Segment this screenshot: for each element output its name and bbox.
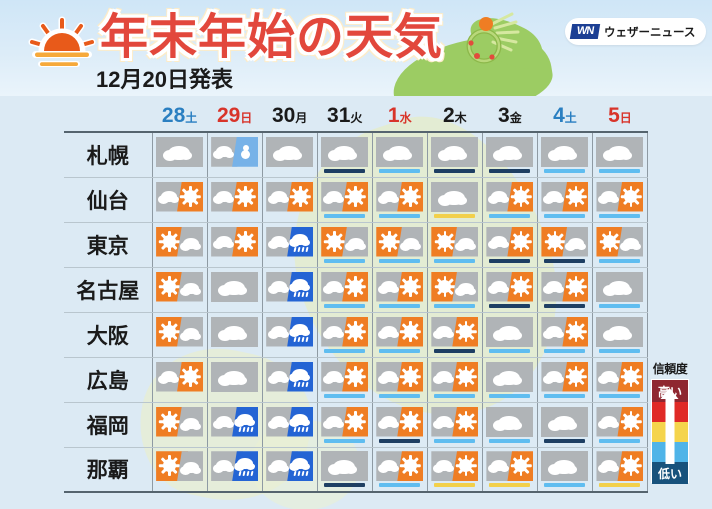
- sun-core: [165, 461, 175, 471]
- confidence-bar: [544, 304, 585, 308]
- sun-glyph: [349, 190, 362, 203]
- confidence-bar: [379, 259, 420, 263]
- forecast-icon-box: [211, 317, 258, 353]
- weather-icon-cloudy-rain: [211, 451, 258, 481]
- forecast-cell[interactable]: [592, 357, 647, 402]
- cloud-glyph: [326, 371, 342, 382]
- sun-core: [626, 371, 636, 381]
- confidence-bar: [489, 439, 530, 443]
- date-number: 3: [498, 104, 510, 127]
- weather-icon-cloudy: [486, 317, 533, 347]
- sun-core: [516, 461, 526, 471]
- confidence-bar: [269, 214, 310, 218]
- forecast-cell[interactable]: [592, 177, 647, 222]
- forecast-icon-box: [486, 362, 533, 398]
- raindrop: [243, 471, 246, 476]
- forecast-cell[interactable]: [152, 447, 207, 492]
- forecast-icon-box: [541, 137, 588, 173]
- confidence-bar: [379, 169, 420, 173]
- forecast-cell[interactable]: [427, 357, 482, 402]
- forecast-cell[interactable]: [372, 267, 427, 312]
- cloud-glyph: [223, 371, 245, 385]
- sunrise-icon: [28, 14, 96, 70]
- forecast-icon-box: [541, 182, 588, 218]
- forecast-cell[interactable]: [427, 447, 482, 492]
- forecast-cell[interactable]: [427, 132, 482, 177]
- forecast-icon-box: [541, 317, 588, 353]
- forecast-cell[interactable]: [262, 177, 317, 222]
- forecast-cell[interactable]: [317, 312, 372, 357]
- weather-panel: [486, 317, 533, 347]
- table-row: 東京: [64, 222, 648, 267]
- weather-panel: [431, 182, 478, 212]
- weather-panel: [431, 137, 478, 167]
- forecast-cell[interactable]: [207, 312, 262, 357]
- forecast-cell[interactable]: [427, 312, 482, 357]
- confidence-bar: [214, 394, 255, 398]
- forecast-cell[interactable]: [207, 132, 262, 177]
- forecast-cell[interactable]: [482, 357, 537, 402]
- raindrop: [298, 427, 301, 432]
- confidence-bar: [159, 214, 200, 218]
- sun-core: [165, 326, 175, 336]
- confidence-bar: [324, 349, 365, 353]
- forecast-cell[interactable]: [427, 222, 482, 267]
- cloud-glyph: [278, 146, 300, 160]
- forecast-cell[interactable]: [482, 402, 537, 447]
- sun-glyph: [404, 415, 417, 428]
- confidence-bar: [544, 349, 585, 353]
- forecast-icon-box: [266, 227, 313, 263]
- confidence-bar: [269, 439, 310, 443]
- sun-glyph: [569, 280, 582, 293]
- weather-panel: [541, 137, 588, 167]
- forecast-cell[interactable]: [482, 312, 537, 357]
- cloud-glyph: [292, 414, 308, 425]
- confidence-bar: [379, 394, 420, 398]
- confidence-bar: [434, 394, 475, 398]
- weather-icon-cloudy-sunny: [321, 407, 368, 437]
- weather-icon-cloudy: [431, 137, 478, 167]
- raindrop: [306, 382, 309, 387]
- forecast-icon-box: [266, 407, 313, 443]
- forecast-icon-box: [486, 451, 533, 487]
- sun-core: [605, 236, 615, 246]
- cloud-glyph: [183, 328, 199, 339]
- forecast-icon-box: [321, 272, 368, 308]
- forecast-icon-box: [596, 362, 643, 398]
- date-weekday: 火: [350, 111, 362, 125]
- sun-glyph: [514, 235, 527, 248]
- cloud-glyph: [436, 326, 452, 337]
- weathernews-logo[interactable]: WN ウェザーニュース: [565, 18, 706, 45]
- weather-icon-cloudy-rain: [266, 362, 313, 392]
- cloud-glyph: [491, 191, 507, 202]
- raindrops-glyph: [294, 337, 308, 342]
- date-header-1: 1水: [372, 104, 427, 132]
- forecast-cell[interactable]: [482, 447, 537, 492]
- cloud-glyph: [601, 460, 617, 471]
- sun-core: [516, 281, 526, 291]
- weather-icon-sunny-cloudy: [431, 272, 478, 302]
- confidence-bar: [214, 169, 255, 173]
- sun-glyph: [404, 190, 417, 203]
- forecast-icon-box: [376, 182, 423, 218]
- confidence-bar: [214, 304, 255, 308]
- forecast-cell[interactable]: [537, 402, 592, 447]
- sun-core: [351, 326, 361, 336]
- raindrop: [298, 337, 301, 342]
- raindrops-glyph: [294, 427, 308, 432]
- sun-core: [406, 371, 416, 381]
- forecast-cell[interactable]: [482, 222, 537, 267]
- sun-glyph: [569, 370, 582, 383]
- sun-core: [406, 281, 416, 291]
- sun-core: [461, 461, 471, 471]
- cloud-glyph: [498, 146, 520, 160]
- forecast-cell[interactable]: [592, 132, 647, 177]
- weather-icon-cloudy: [211, 362, 258, 392]
- weather-panel: [211, 317, 258, 347]
- cloud-glyph: [271, 191, 287, 202]
- sun-core: [351, 371, 361, 381]
- forecast-icon-box: [321, 137, 368, 173]
- date-weekday: 土: [185, 111, 197, 125]
- weather-icon-cloudy-sunny: [541, 317, 588, 347]
- confidence-bar: [159, 304, 200, 308]
- forecast-icon-box: [431, 137, 478, 173]
- confidence-bar: [489, 259, 530, 263]
- weather-icon-cloudy: [596, 272, 643, 302]
- forecast-cell[interactable]: [482, 177, 537, 222]
- forecast-cell[interactable]: [372, 177, 427, 222]
- forecast-cell[interactable]: [207, 357, 262, 402]
- sun-glyph: [404, 459, 417, 472]
- cloud-glyph: [553, 416, 575, 430]
- forecast-cell[interactable]: [152, 402, 207, 447]
- forecast-icon-box: [431, 407, 478, 443]
- weather-icon-cloudy-sunny: [211, 182, 258, 212]
- forecast-cell[interactable]: [152, 312, 207, 357]
- cloud-glyph: [348, 238, 364, 249]
- table-row: 那覇: [64, 447, 648, 492]
- forecast-cell[interactable]: [262, 222, 317, 267]
- sun-core: [165, 281, 175, 291]
- raindrop: [298, 292, 301, 297]
- raindrop: [302, 382, 305, 387]
- cloud-glyph: [436, 460, 452, 471]
- confidence-bar: [269, 349, 310, 353]
- weather-icon-cloudy-sunny: [156, 362, 203, 392]
- cloud-glyph: [223, 326, 245, 340]
- raindrops-glyph: [294, 247, 308, 252]
- raindrops-glyph: [294, 292, 308, 297]
- sun-core: [385, 236, 395, 246]
- confidence-bar: [214, 439, 255, 443]
- cloud-glyph: [237, 458, 253, 469]
- date-header-29: 29日: [207, 104, 262, 132]
- forecast-cell[interactable]: [537, 312, 592, 357]
- confidence-bar: [434, 214, 475, 218]
- cloud-glyph: [292, 369, 308, 380]
- confidence-bar: [489, 169, 530, 173]
- forecast-cell[interactable]: [262, 447, 317, 492]
- sun-core: [626, 461, 636, 471]
- city-label: 名古屋: [64, 267, 152, 312]
- weather-panel: [376, 137, 423, 167]
- forecast-cell[interactable]: [207, 447, 262, 492]
- forecast-cell[interactable]: [207, 402, 262, 447]
- confidence-bar: [544, 439, 585, 443]
- date-header-28: 28土: [152, 104, 207, 132]
- weather-panel: [486, 137, 533, 167]
- forecast-icon-box: [596, 407, 643, 443]
- weather-icon-cloudy: [211, 317, 258, 347]
- cloud-glyph: [458, 283, 474, 294]
- forecast-cell[interactable]: [262, 357, 317, 402]
- date-number: 2: [443, 104, 455, 127]
- sun-core: [440, 281, 450, 291]
- legend-gradient-bar: 高い 低い: [651, 379, 689, 483]
- raindrop: [247, 471, 250, 476]
- city-label: 東京: [64, 222, 152, 267]
- confidence-bar: [379, 439, 420, 443]
- weather-panel: [211, 272, 258, 302]
- forecast-cell[interactable]: [317, 447, 372, 492]
- cloud-glyph: [216, 236, 232, 247]
- forecast-cell[interactable]: [207, 177, 262, 222]
- cloud-glyph: [491, 281, 507, 292]
- cloud-glyph: [216, 146, 232, 157]
- city-label: 福岡: [64, 402, 152, 447]
- confidence-bar: [269, 394, 310, 398]
- forecast-cell[interactable]: [262, 267, 317, 312]
- forecast-cell[interactable]: [537, 222, 592, 267]
- forecast-icon-box: [266, 272, 313, 308]
- forecast-icon-box: [431, 451, 478, 487]
- confidence-bar: [544, 169, 585, 173]
- confidence-bar: [324, 483, 365, 487]
- forecast-cell[interactable]: [152, 357, 207, 402]
- sun-core: [571, 281, 581, 291]
- forecast-cell[interactable]: [262, 402, 317, 447]
- forecast-icon-box: [376, 362, 423, 398]
- forecast-cell[interactable]: [152, 267, 207, 312]
- sun-glyph: [184, 370, 197, 383]
- sun-glyph: [404, 325, 417, 338]
- forecast-icon-box: [211, 362, 258, 398]
- forecast-icon-box: [431, 227, 478, 263]
- date-weekday: 日: [240, 111, 252, 125]
- weather-icon-sunny-cloudy: [431, 227, 478, 257]
- sun-glyph: [163, 280, 176, 293]
- sun-glyph: [163, 235, 176, 248]
- weather-icon-cloudy: [486, 407, 533, 437]
- weather-icon-sunny-cloudy: [156, 227, 203, 257]
- forecast-cell[interactable]: [482, 267, 537, 312]
- forecast-cell[interactable]: [592, 312, 647, 357]
- sun-core: [516, 191, 526, 201]
- weather-icon-cloudy: [156, 137, 203, 167]
- forecast-cell[interactable]: [317, 177, 372, 222]
- cloud-glyph: [381, 326, 397, 337]
- cloud-glyph: [381, 416, 397, 427]
- forecast-cell[interactable]: [207, 267, 262, 312]
- cloud-glyph: [498, 371, 520, 385]
- weather-icon-cloudy: [266, 137, 313, 167]
- date-header-4: 4土: [537, 104, 592, 132]
- weather-icon-sunny-cloudy: [156, 451, 203, 481]
- sun-core: [406, 326, 416, 336]
- forecast-cell[interactable]: [317, 267, 372, 312]
- raindrop: [294, 292, 297, 297]
- weather-panel: [596, 272, 643, 302]
- forecast-icon-box: [541, 407, 588, 443]
- date-weekday: 月: [295, 111, 307, 125]
- sun-core: [461, 326, 471, 336]
- forecast-cell[interactable]: [317, 222, 372, 267]
- weather-panel: [541, 451, 588, 481]
- forecast-icon-box: [376, 407, 423, 443]
- forecast-cell[interactable]: [537, 267, 592, 312]
- cloud-glyph: [292, 458, 308, 469]
- forecast-cell[interactable]: [592, 447, 647, 492]
- sun-glyph: [349, 370, 362, 383]
- forecast-icon-box: [321, 407, 368, 443]
- cloud-glyph: [183, 283, 199, 294]
- forecast-icon-box: [156, 317, 203, 353]
- forecast-cell[interactable]: [262, 132, 317, 177]
- forecast-cell[interactable]: [372, 222, 427, 267]
- date-header-31: 31火: [317, 104, 372, 132]
- weather-icon-cloudy: [321, 137, 368, 167]
- forecast-cell[interactable]: [262, 312, 317, 357]
- forecast-cell[interactable]: [537, 177, 592, 222]
- cloud-glyph: [333, 146, 355, 160]
- raindrop: [243, 427, 246, 432]
- weather-icon-cloudy-sunny: [321, 182, 368, 212]
- cloud-glyph: [568, 238, 584, 249]
- cloud-glyph: [183, 238, 199, 249]
- confidence-bar: [434, 259, 475, 263]
- forecast-cell[interactable]: [372, 312, 427, 357]
- confidence-bar: [379, 214, 420, 218]
- forecast-cell[interactable]: [152, 222, 207, 267]
- weather-icon-cloudy-rain: [266, 407, 313, 437]
- weather-icon-cloudy: [541, 137, 588, 167]
- forecast-cell[interactable]: [152, 132, 207, 177]
- weathernews-logo-text: ウェザーニュース: [604, 24, 695, 40]
- sun-glyph: [404, 370, 417, 383]
- sun-core: [351, 416, 361, 426]
- forecast-cell[interactable]: [427, 402, 482, 447]
- forecast-cell[interactable]: [317, 132, 372, 177]
- forecast-cell[interactable]: [372, 402, 427, 447]
- cloud-glyph: [271, 236, 287, 247]
- forecast-icon-box: [596, 182, 643, 218]
- sun-glyph: [603, 235, 616, 248]
- confidence-bar: [324, 394, 365, 398]
- forecast-icon-box: [376, 227, 423, 263]
- raindrops-glyph: [294, 382, 308, 387]
- forecast-icon-box: [321, 317, 368, 353]
- forecast-cell[interactable]: [592, 402, 647, 447]
- cloud-glyph: [601, 416, 617, 427]
- confidence-bar: [214, 259, 255, 263]
- city-label: 大阪: [64, 312, 152, 357]
- forecast-cell[interactable]: [537, 357, 592, 402]
- date-number: 4: [553, 104, 565, 127]
- sun-core: [186, 371, 196, 381]
- weather-icon-cloudy-sunny: [266, 182, 313, 212]
- forecast-cell[interactable]: [372, 357, 427, 402]
- forecast-icon-box: [431, 317, 478, 353]
- cloud-glyph: [223, 281, 245, 295]
- cloud-glyph: [326, 416, 342, 427]
- weather-icon-sunny-cloudy: [321, 227, 368, 257]
- table-row: 広島: [64, 357, 648, 402]
- forecast-cell[interactable]: [592, 267, 647, 312]
- sun-glyph: [459, 325, 472, 338]
- forecast-cell[interactable]: [537, 132, 592, 177]
- forecast-cell[interactable]: [152, 177, 207, 222]
- raindrop: [298, 247, 301, 252]
- confidence-bar: [159, 439, 200, 443]
- forecast-cell[interactable]: [317, 357, 372, 402]
- confidence-bar: [434, 439, 475, 443]
- sun-glyph: [349, 280, 362, 293]
- forecast-cell[interactable]: [207, 222, 262, 267]
- cloud-glyph: [553, 460, 575, 474]
- raindrop: [298, 471, 301, 476]
- forecast-cell[interactable]: [482, 132, 537, 177]
- cloud-glyph: [498, 416, 520, 430]
- cloud-glyph: [381, 371, 397, 382]
- legend-title: 信頼度: [648, 360, 692, 377]
- confidence-bar: [269, 483, 310, 487]
- forecast-cell[interactable]: [372, 132, 427, 177]
- table-row: 名古屋: [64, 267, 648, 312]
- forecast-icon-box: [211, 451, 258, 487]
- forecast-rows: 札幌仙台東京名古屋大阪広島福岡那覇: [64, 132, 648, 492]
- forecast-icon-box: [211, 137, 258, 173]
- forecast-cell[interactable]: [427, 177, 482, 222]
- cloud-glyph: [381, 460, 397, 471]
- forecast-cell[interactable]: [317, 402, 372, 447]
- sun-core: [571, 326, 581, 336]
- forecast-cell[interactable]: [592, 222, 647, 267]
- forecast-icon-box: [431, 272, 478, 308]
- sun-core: [516, 236, 526, 246]
- forecast-cell[interactable]: [537, 447, 592, 492]
- weather-icon-sunny-cloudy: [541, 227, 588, 257]
- sun-glyph: [569, 190, 582, 203]
- confidence-bar: [544, 214, 585, 218]
- cloud-glyph: [608, 281, 630, 295]
- date-header-3: 3金: [482, 104, 537, 132]
- forecast-cell[interactable]: [372, 447, 427, 492]
- raindrops-glyph: [239, 471, 253, 476]
- confidence-bar: [434, 169, 475, 173]
- weather-icon-cloudy: [376, 137, 423, 167]
- weather-panel: [486, 362, 533, 392]
- confidence-bar: [269, 259, 310, 263]
- sun-glyph: [163, 459, 176, 472]
- new-year-wreath-icon: [462, 12, 520, 68]
- forecast-cell[interactable]: [427, 267, 482, 312]
- weather-panel: [321, 137, 368, 167]
- confidence-bar: [544, 483, 585, 487]
